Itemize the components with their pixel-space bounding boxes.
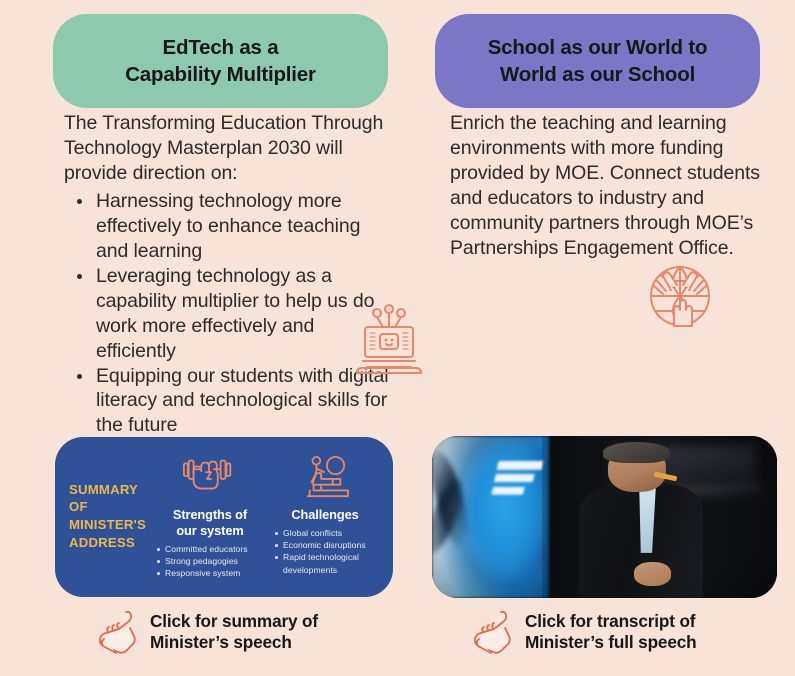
summary-column-challenges-heading: Challenges xyxy=(291,507,358,523)
panel-heading-edtech-line1: EdTech as a xyxy=(125,34,316,61)
summary-strengths-list: Committed educators Strong pedagogies Re… xyxy=(145,543,275,580)
photo-vignette xyxy=(432,436,777,598)
list-item: Rapid technological developments xyxy=(275,551,387,575)
strengths-heading-line2: our system xyxy=(176,523,243,538)
hand-dumbbell-icon xyxy=(181,451,239,503)
panel-heading-edtech-line2: Capability Multiplier xyxy=(125,61,316,88)
list-item: Equipping our students with digital lite… xyxy=(94,364,394,439)
panel-body-edtech: The Transforming Education Through Techn… xyxy=(64,111,394,438)
pointing-hand-icon xyxy=(95,608,141,656)
transcript-caption-line1: Click for transcript of xyxy=(525,611,697,632)
list-item: Harnessing technology more effectively t… xyxy=(94,189,394,264)
school-world-paragraph: Enrich the teaching and learning environ… xyxy=(450,111,762,261)
summary-caption-line2: Minister’s speech xyxy=(150,632,318,653)
summary-card-title-line3: ADDRESS xyxy=(69,534,151,552)
summary-column-strengths-heading: Strengths of our system xyxy=(173,507,247,539)
transcript-caption[interactable]: Click for transcript of Minister’s full … xyxy=(470,608,782,656)
minister-summary-card[interactable]: SUMMARY OF MINISTER'S ADDRESS xyxy=(55,437,393,597)
minister-speech-photo[interactable] xyxy=(432,436,777,598)
list-item: Committed educators xyxy=(157,543,275,555)
list-item: Global conflicts xyxy=(275,527,387,539)
strengths-heading-line1: Strengths of xyxy=(173,507,247,522)
robot-laptop-icon xyxy=(353,303,425,383)
panel-body-school-world: Enrich the teaching and learning environ… xyxy=(450,111,762,261)
summary-caption-line1: Click for summary of xyxy=(150,611,318,632)
list-item: Leveraging technology as a capability mu… xyxy=(94,264,394,364)
summary-challenges-list: Global conflicts Economic disruptions Ra… xyxy=(263,527,387,576)
summary-card-title-line2: MINISTER'S xyxy=(69,516,151,534)
slide-root: EdTech as a Capability Multiplier School… xyxy=(0,0,795,676)
panel-heading-school-world: School as our World to World as our Scho… xyxy=(435,14,760,108)
pointing-hand-icon xyxy=(470,608,516,656)
edtech-intro-paragraph: The Transforming Education Through Techn… xyxy=(64,111,394,186)
list-item: Economic disruptions xyxy=(275,539,387,551)
transcript-caption-line2: Minister’s full speech xyxy=(525,632,697,653)
summary-card-title-line1: SUMMARY OF xyxy=(69,481,151,516)
summary-card-caption[interactable]: Click for summary of Minister’s speech xyxy=(95,608,395,656)
summary-caption-text: Click for summary of Minister’s speech xyxy=(150,611,318,653)
summary-column-strengths: Strengths of our system Committed educat… xyxy=(151,447,269,589)
photo-stage-scene xyxy=(432,436,777,598)
challenges-heading-line1: Challenges xyxy=(291,507,358,522)
transcript-caption-text: Click for transcript of Minister’s full … xyxy=(525,611,697,653)
panel-heading-school-world-line1: School as our World to xyxy=(488,34,708,61)
hands-globe-icon xyxy=(641,256,719,336)
edtech-bullet-list: Harnessing technology more effectively t… xyxy=(64,189,394,439)
summary-card-title: SUMMARY OF MINISTER'S ADDRESS xyxy=(69,481,151,556)
list-item: Responsive system xyxy=(157,567,275,579)
summary-column-challenges: Challenges Global conflicts Economic dis… xyxy=(269,447,381,589)
person-climbing-steps-icon xyxy=(298,451,352,503)
panel-heading-school-world-line2: World as our School xyxy=(488,61,708,88)
list-item: Strong pedagogies xyxy=(157,555,275,567)
panel-heading-edtech: EdTech as a Capability Multiplier xyxy=(53,14,388,108)
